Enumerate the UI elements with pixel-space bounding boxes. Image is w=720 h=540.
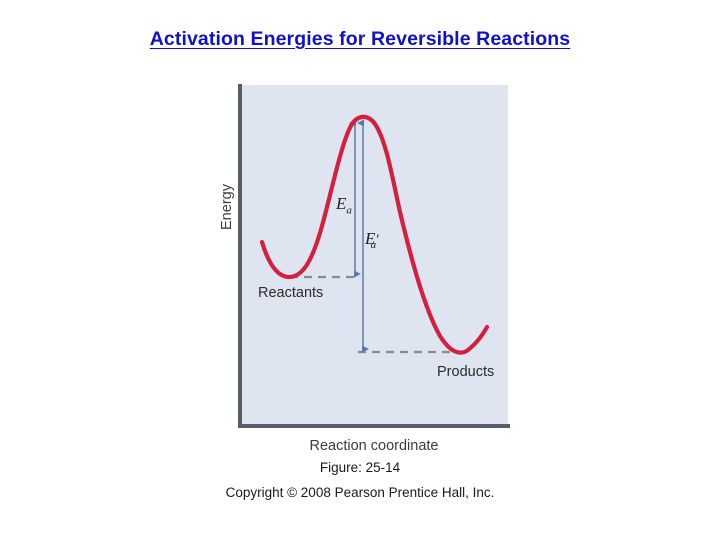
energy-diagram-figure: Energy Reaction coordinate Reactants Pro… [0,0,720,540]
plot-graphics-layer [0,0,720,540]
y-axis-label: Energy [219,162,235,252]
ea-symbol-e: E [336,194,346,213]
products-label: Products [437,364,494,380]
activation-energy-reverse-label: E′a [365,229,376,251]
activation-energy-forward-label: Ea [336,194,352,216]
copyright-caption: Copyright © 2008 Pearson Prentice Hall, … [0,485,720,500]
ea-prime-symbol-sub: a [371,239,377,251]
figure-number-caption: Figure: 25-14 [0,460,720,475]
ea-symbol-sub: a [346,204,352,216]
reactants-label: Reactants [258,285,323,301]
x-axis-label: Reaction coordinate [240,438,508,454]
